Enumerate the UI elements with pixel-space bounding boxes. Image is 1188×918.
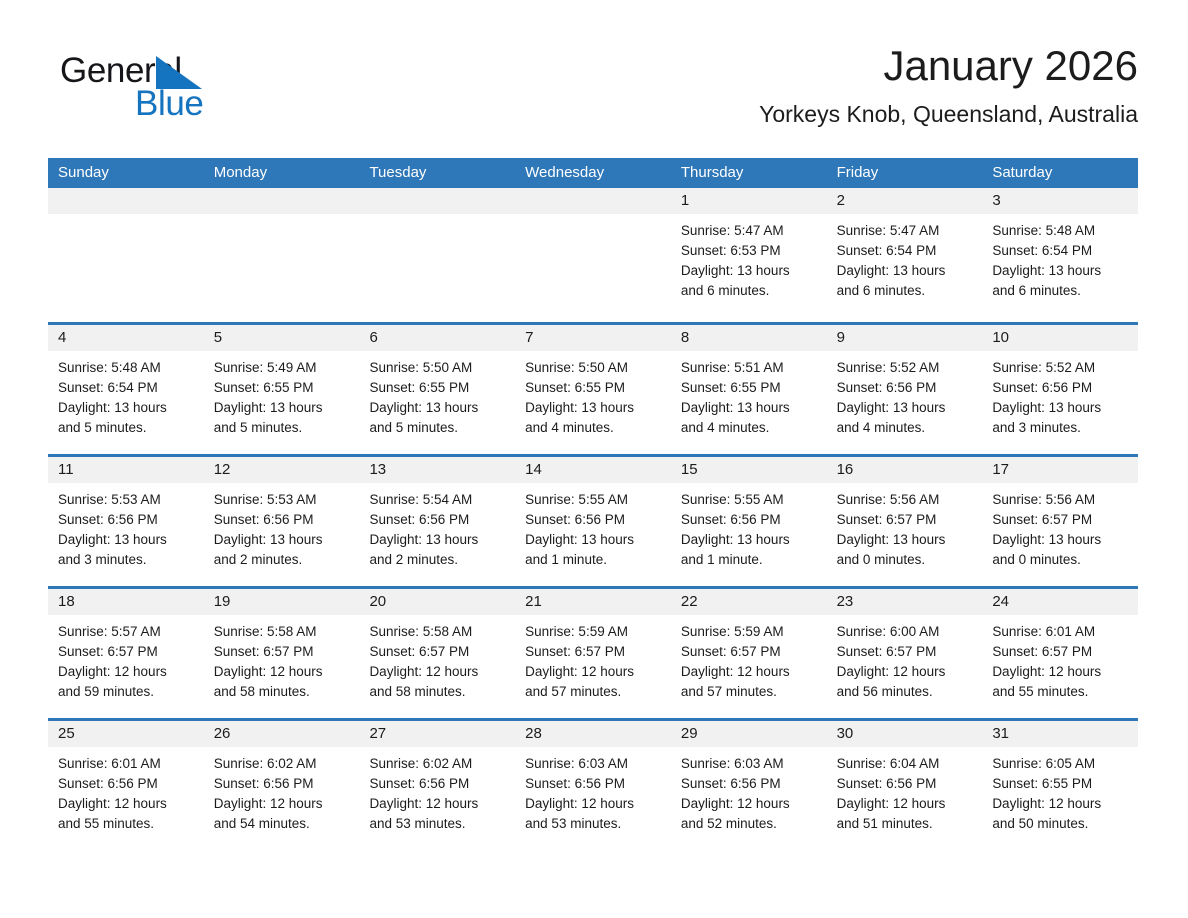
sunset-text: Sunset: 6:56 PM [681, 510, 819, 530]
sunset-text: Sunset: 6:57 PM [992, 642, 1130, 662]
daylight-text-line1: Daylight: 13 hours [681, 530, 819, 550]
calendar-day-cell[interactable]: 30Sunrise: 6:04 AMSunset: 6:56 PMDayligh… [827, 721, 983, 850]
daylight-text-line1: Daylight: 12 hours [681, 794, 819, 814]
daylight-text-line1: Daylight: 12 hours [58, 794, 196, 814]
daylight-text-line2: and 6 minutes. [992, 281, 1130, 301]
sunrise-text: Sunrise: 5:53 AM [214, 490, 352, 510]
daylight-text-line2: and 0 minutes. [992, 550, 1130, 570]
sunset-text: Sunset: 6:56 PM [525, 510, 663, 530]
day-number: 1 [671, 188, 827, 214]
sunset-text: Sunset: 6:55 PM [525, 378, 663, 398]
daylight-text-line1: Daylight: 12 hours [58, 662, 196, 682]
sunrise-text: Sunrise: 6:04 AM [837, 754, 975, 774]
daylight-text-line2: and 55 minutes. [58, 814, 196, 834]
daylight-text-line2: and 53 minutes. [369, 814, 507, 834]
day-sun-info: Sunrise: 5:51 AMSunset: 6:55 PMDaylight:… [671, 351, 827, 438]
day-sun-info: Sunrise: 5:59 AMSunset: 6:57 PMDaylight:… [515, 615, 671, 702]
day-header-sunday: Sunday [48, 158, 204, 188]
daylight-text-line1: Daylight: 13 hours [525, 530, 663, 550]
sunset-text: Sunset: 6:56 PM [837, 378, 975, 398]
day-number: 13 [359, 457, 515, 483]
day-sun-info: Sunrise: 5:58 AMSunset: 6:57 PMDaylight:… [359, 615, 515, 702]
daylight-text-line2: and 59 minutes. [58, 682, 196, 702]
calendar-day-cell[interactable]: 16Sunrise: 5:56 AMSunset: 6:57 PMDayligh… [827, 457, 983, 586]
day-sun-info: Sunrise: 5:50 AMSunset: 6:55 PMDaylight:… [515, 351, 671, 438]
calendar-day-cell[interactable]: 20Sunrise: 5:58 AMSunset: 6:57 PMDayligh… [359, 589, 515, 718]
general-blue-logo[interactable]: General Blue [60, 52, 260, 130]
page-header: General Blue January 2026 Yorkeys Knob, … [48, 40, 1140, 150]
sunset-text: Sunset: 6:56 PM [58, 510, 196, 530]
day-number: 26 [204, 721, 360, 747]
daylight-text-line2: and 6 minutes. [681, 281, 819, 301]
daylight-text-line2: and 55 minutes. [992, 682, 1130, 702]
sunset-text: Sunset: 6:57 PM [58, 642, 196, 662]
calendar-day-cell[interactable]: 10Sunrise: 5:52 AMSunset: 6:56 PMDayligh… [982, 325, 1138, 454]
day-number: 21 [515, 589, 671, 615]
daylight-text-line2: and 57 minutes. [525, 682, 663, 702]
sunset-text: Sunset: 6:56 PM [214, 510, 352, 530]
weeks-container: 1Sunrise: 5:47 AMSunset: 6:53 PMDaylight… [48, 188, 1138, 850]
day-sun-info: Sunrise: 6:01 AMSunset: 6:56 PMDaylight:… [48, 747, 204, 834]
day-number [359, 188, 515, 214]
sunrise-text: Sunrise: 5:59 AM [525, 622, 663, 642]
sunset-text: Sunset: 6:56 PM [214, 774, 352, 794]
sunrise-text: Sunrise: 5:48 AM [992, 221, 1130, 241]
daylight-text-line1: Daylight: 13 hours [214, 530, 352, 550]
calendar-day-cell-empty [204, 188, 360, 322]
calendar-day-cell[interactable]: 26Sunrise: 6:02 AMSunset: 6:56 PMDayligh… [204, 721, 360, 850]
sunrise-text: Sunrise: 5:55 AM [525, 490, 663, 510]
sunset-text: Sunset: 6:56 PM [369, 510, 507, 530]
sunset-text: Sunset: 6:56 PM [837, 774, 975, 794]
daylight-text-line1: Daylight: 12 hours [837, 794, 975, 814]
daylight-text-line2: and 52 minutes. [681, 814, 819, 834]
sunset-text: Sunset: 6:57 PM [214, 642, 352, 662]
day-number [48, 188, 204, 214]
calendar-day-cell[interactable]: 8Sunrise: 5:51 AMSunset: 6:55 PMDaylight… [671, 325, 827, 454]
daylight-text-line1: Daylight: 13 hours [992, 398, 1130, 418]
calendar-day-cell[interactable]: 14Sunrise: 5:55 AMSunset: 6:56 PMDayligh… [515, 457, 671, 586]
day-number: 14 [515, 457, 671, 483]
day-number: 29 [671, 721, 827, 747]
day-number: 2 [827, 188, 983, 214]
calendar-day-cell[interactable]: 4Sunrise: 5:48 AMSunset: 6:54 PMDaylight… [48, 325, 204, 454]
day-number: 6 [359, 325, 515, 351]
sunrise-text: Sunrise: 5:48 AM [58, 358, 196, 378]
day-header-friday: Friday [827, 158, 983, 188]
day-header-wednesday: Wednesday [515, 158, 671, 188]
daylight-text-line1: Daylight: 12 hours [525, 794, 663, 814]
day-sun-info: Sunrise: 5:56 AMSunset: 6:57 PMDaylight:… [982, 483, 1138, 570]
day-number: 20 [359, 589, 515, 615]
title-block: January 2026 Yorkeys Knob, Queensland, A… [759, 40, 1138, 130]
daylight-text-line2: and 5 minutes. [58, 418, 196, 438]
daylight-text-line1: Daylight: 13 hours [992, 261, 1130, 281]
day-number: 8 [671, 325, 827, 351]
day-of-week-header-row: Sunday Monday Tuesday Wednesday Thursday… [48, 158, 1138, 188]
sunset-text: Sunset: 6:57 PM [525, 642, 663, 662]
day-number: 12 [204, 457, 360, 483]
sunset-text: Sunset: 6:54 PM [58, 378, 196, 398]
daylight-text-line2: and 2 minutes. [214, 550, 352, 570]
day-sun-info: Sunrise: 5:57 AMSunset: 6:57 PMDaylight:… [48, 615, 204, 702]
calendar-day-cell[interactable]: 18Sunrise: 5:57 AMSunset: 6:57 PMDayligh… [48, 589, 204, 718]
day-header-thursday: Thursday [671, 158, 827, 188]
day-number: 4 [48, 325, 204, 351]
day-sun-info: Sunrise: 5:53 AMSunset: 6:56 PMDaylight:… [204, 483, 360, 570]
day-sun-info: Sunrise: 6:05 AMSunset: 6:55 PMDaylight:… [982, 747, 1138, 834]
sunrise-text: Sunrise: 5:58 AM [214, 622, 352, 642]
day-number: 22 [671, 589, 827, 615]
day-sun-info: Sunrise: 6:03 AMSunset: 6:56 PMDaylight:… [515, 747, 671, 834]
calendar-week-row: 18Sunrise: 5:57 AMSunset: 6:57 PMDayligh… [48, 586, 1138, 718]
sunset-text: Sunset: 6:54 PM [992, 241, 1130, 261]
calendar-day-cell[interactable]: 3Sunrise: 5:48 AMSunset: 6:54 PMDaylight… [982, 188, 1138, 322]
calendar-day-cell-empty [359, 188, 515, 322]
calendar-page: General Blue January 2026 Yorkeys Knob, … [0, 0, 1188, 918]
daylight-text-line2: and 6 minutes. [837, 281, 975, 301]
sunrise-text: Sunrise: 5:52 AM [837, 358, 975, 378]
daylight-text-line1: Daylight: 13 hours [681, 261, 819, 281]
sunrise-text: Sunrise: 5:51 AM [681, 358, 819, 378]
daylight-text-line1: Daylight: 13 hours [837, 530, 975, 550]
sunrise-text: Sunrise: 5:54 AM [369, 490, 507, 510]
calendar-day-cell-empty [515, 188, 671, 322]
day-number: 9 [827, 325, 983, 351]
day-header-saturday: Saturday [982, 158, 1138, 188]
sunrise-text: Sunrise: 6:02 AM [369, 754, 507, 774]
sunrise-text: Sunrise: 5:47 AM [681, 221, 819, 241]
day-sun-info: Sunrise: 5:47 AMSunset: 6:53 PMDaylight:… [671, 214, 827, 301]
calendar-day-cell[interactable]: 29Sunrise: 6:03 AMSunset: 6:56 PMDayligh… [671, 721, 827, 850]
daylight-text-line2: and 56 minutes. [837, 682, 975, 702]
day-sun-info: Sunrise: 6:03 AMSunset: 6:56 PMDaylight:… [671, 747, 827, 834]
calendar-day-cell[interactable]: 28Sunrise: 6:03 AMSunset: 6:56 PMDayligh… [515, 721, 671, 850]
day-number: 15 [671, 457, 827, 483]
daylight-text-line1: Daylight: 12 hours [525, 662, 663, 682]
day-sun-info: Sunrise: 5:50 AMSunset: 6:55 PMDaylight:… [359, 351, 515, 438]
sunrise-text: Sunrise: 5:56 AM [837, 490, 975, 510]
calendar-day-cell[interactable]: 12Sunrise: 5:53 AMSunset: 6:56 PMDayligh… [204, 457, 360, 586]
sunset-text: Sunset: 6:55 PM [369, 378, 507, 398]
sunset-text: Sunset: 6:56 PM [525, 774, 663, 794]
page-title: January 2026 [759, 40, 1138, 92]
day-number: 24 [982, 589, 1138, 615]
daylight-text-line2: and 53 minutes. [525, 814, 663, 834]
daylight-text-line2: and 54 minutes. [214, 814, 352, 834]
day-sun-info: Sunrise: 6:02 AMSunset: 6:56 PMDaylight:… [204, 747, 360, 834]
sunrise-text: Sunrise: 5:58 AM [369, 622, 507, 642]
sunrise-text: Sunrise: 6:00 AM [837, 622, 975, 642]
daylight-text-line1: Daylight: 13 hours [369, 398, 507, 418]
daylight-text-line1: Daylight: 13 hours [837, 398, 975, 418]
day-sun-info: Sunrise: 5:55 AMSunset: 6:56 PMDaylight:… [671, 483, 827, 570]
day-sun-info: Sunrise: 5:53 AMSunset: 6:56 PMDaylight:… [48, 483, 204, 570]
sunrise-text: Sunrise: 6:03 AM [681, 754, 819, 774]
day-sun-info: Sunrise: 5:54 AMSunset: 6:56 PMDaylight:… [359, 483, 515, 570]
calendar-day-cell[interactable]: 17Sunrise: 5:56 AMSunset: 6:57 PMDayligh… [982, 457, 1138, 586]
day-sun-info: Sunrise: 6:04 AMSunset: 6:56 PMDaylight:… [827, 747, 983, 834]
daylight-text-line2: and 50 minutes. [992, 814, 1130, 834]
daylight-text-line2: and 5 minutes. [214, 418, 352, 438]
day-sun-info: Sunrise: 6:02 AMSunset: 6:56 PMDaylight:… [359, 747, 515, 834]
daylight-text-line2: and 5 minutes. [369, 418, 507, 438]
day-number: 23 [827, 589, 983, 615]
logo-text-blue: Blue [135, 85, 203, 123]
sunset-text: Sunset: 6:56 PM [992, 378, 1130, 398]
day-number: 10 [982, 325, 1138, 351]
sunrise-text: Sunrise: 5:55 AM [681, 490, 819, 510]
day-sun-info: Sunrise: 5:47 AMSunset: 6:54 PMDaylight:… [827, 214, 983, 301]
day-number [515, 188, 671, 214]
sunrise-text: Sunrise: 5:53 AM [58, 490, 196, 510]
daylight-text-line1: Daylight: 12 hours [369, 794, 507, 814]
daylight-text-line2: and 58 minutes. [369, 682, 507, 702]
calendar-day-cell[interactable]: 7Sunrise: 5:50 AMSunset: 6:55 PMDaylight… [515, 325, 671, 454]
sunrise-text: Sunrise: 5:49 AM [214, 358, 352, 378]
day-sun-info: Sunrise: 5:56 AMSunset: 6:57 PMDaylight:… [827, 483, 983, 570]
sunrise-text: Sunrise: 6:03 AM [525, 754, 663, 774]
sunrise-text: Sunrise: 5:59 AM [681, 622, 819, 642]
sunset-text: Sunset: 6:55 PM [214, 378, 352, 398]
sunrise-text: Sunrise: 5:47 AM [837, 221, 975, 241]
daylight-text-line2: and 58 minutes. [214, 682, 352, 702]
calendar-day-cell-empty [48, 188, 204, 322]
sunrise-text: Sunrise: 6:01 AM [992, 622, 1130, 642]
daylight-text-line1: Daylight: 12 hours [837, 662, 975, 682]
calendar-week-row: 4Sunrise: 5:48 AMSunset: 6:54 PMDaylight… [48, 322, 1138, 454]
daylight-text-line2: and 1 minute. [525, 550, 663, 570]
calendar-day-cell[interactable]: 1Sunrise: 5:47 AMSunset: 6:53 PMDaylight… [671, 188, 827, 322]
daylight-text-line1: Daylight: 13 hours [681, 398, 819, 418]
day-sun-info: Sunrise: 5:48 AMSunset: 6:54 PMDaylight:… [48, 351, 204, 438]
calendar-day-cell[interactable]: 31Sunrise: 6:05 AMSunset: 6:55 PMDayligh… [982, 721, 1138, 850]
sunset-text: Sunset: 6:57 PM [837, 642, 975, 662]
calendar-day-cell[interactable]: 13Sunrise: 5:54 AMSunset: 6:56 PMDayligh… [359, 457, 515, 586]
sunrise-text: Sunrise: 5:52 AM [992, 358, 1130, 378]
day-number: 25 [48, 721, 204, 747]
sunset-text: Sunset: 6:57 PM [681, 642, 819, 662]
sunrise-text: Sunrise: 5:57 AM [58, 622, 196, 642]
sunset-text: Sunset: 6:53 PM [681, 241, 819, 261]
calendar-grid: Sunday Monday Tuesday Wednesday Thursday… [48, 158, 1138, 850]
sunset-text: Sunset: 6:57 PM [369, 642, 507, 662]
calendar-day-cell[interactable]: 22Sunrise: 5:59 AMSunset: 6:57 PMDayligh… [671, 589, 827, 718]
sunrise-text: Sunrise: 5:50 AM [369, 358, 507, 378]
day-number: 27 [359, 721, 515, 747]
day-number: 16 [827, 457, 983, 483]
day-number: 31 [982, 721, 1138, 747]
calendar-day-cell[interactable]: 15Sunrise: 5:55 AMSunset: 6:56 PMDayligh… [671, 457, 827, 586]
calendar-day-cell[interactable]: 9Sunrise: 5:52 AMSunset: 6:56 PMDaylight… [827, 325, 983, 454]
day-sun-info: Sunrise: 5:55 AMSunset: 6:56 PMDaylight:… [515, 483, 671, 570]
daylight-text-line2: and 4 minutes. [681, 418, 819, 438]
daylight-text-line1: Daylight: 12 hours [992, 662, 1130, 682]
calendar-day-cell[interactable]: 24Sunrise: 6:01 AMSunset: 6:57 PMDayligh… [982, 589, 1138, 718]
calendar-day-cell[interactable]: 5Sunrise: 5:49 AMSunset: 6:55 PMDaylight… [204, 325, 360, 454]
daylight-text-line1: Daylight: 13 hours [58, 530, 196, 550]
calendar-week-row: 11Sunrise: 5:53 AMSunset: 6:56 PMDayligh… [48, 454, 1138, 586]
daylight-text-line1: Daylight: 13 hours [369, 530, 507, 550]
sunset-text: Sunset: 6:56 PM [58, 774, 196, 794]
day-number: 11 [48, 457, 204, 483]
sunset-text: Sunset: 6:55 PM [992, 774, 1130, 794]
daylight-text-line2: and 4 minutes. [525, 418, 663, 438]
day-header-monday: Monday [204, 158, 360, 188]
sunset-text: Sunset: 6:57 PM [837, 510, 975, 530]
daylight-text-line1: Daylight: 12 hours [369, 662, 507, 682]
calendar-day-cell[interactable]: 19Sunrise: 5:58 AMSunset: 6:57 PMDayligh… [204, 589, 360, 718]
day-number: 7 [515, 325, 671, 351]
day-sun-info: Sunrise: 5:59 AMSunset: 6:57 PMDaylight:… [671, 615, 827, 702]
day-number: 28 [515, 721, 671, 747]
calendar-day-cell[interactable]: 6Sunrise: 5:50 AMSunset: 6:55 PMDaylight… [359, 325, 515, 454]
calendar-day-cell[interactable]: 27Sunrise: 6:02 AMSunset: 6:56 PMDayligh… [359, 721, 515, 850]
day-number: 19 [204, 589, 360, 615]
day-sun-info: Sunrise: 5:58 AMSunset: 6:57 PMDaylight:… [204, 615, 360, 702]
calendar-week-row: 25Sunrise: 6:01 AMSunset: 6:56 PMDayligh… [48, 718, 1138, 850]
daylight-text-line2: and 2 minutes. [369, 550, 507, 570]
day-sun-info: Sunrise: 5:52 AMSunset: 6:56 PMDaylight:… [827, 351, 983, 438]
sunrise-text: Sunrise: 6:02 AM [214, 754, 352, 774]
calendar-day-cell[interactable]: 23Sunrise: 6:00 AMSunset: 6:57 PMDayligh… [827, 589, 983, 718]
day-sun-info: Sunrise: 5:49 AMSunset: 6:55 PMDaylight:… [204, 351, 360, 438]
daylight-text-line1: Daylight: 12 hours [214, 794, 352, 814]
day-sun-info: Sunrise: 6:00 AMSunset: 6:57 PMDaylight:… [827, 615, 983, 702]
sunrise-text: Sunrise: 6:05 AM [992, 754, 1130, 774]
daylight-text-line1: Daylight: 13 hours [214, 398, 352, 418]
daylight-text-line2: and 51 minutes. [837, 814, 975, 834]
day-sun-info: Sunrise: 5:52 AMSunset: 6:56 PMDaylight:… [982, 351, 1138, 438]
day-number: 30 [827, 721, 983, 747]
day-number: 18 [48, 589, 204, 615]
daylight-text-line1: Daylight: 13 hours [58, 398, 196, 418]
calendar-day-cell[interactable]: 11Sunrise: 5:53 AMSunset: 6:56 PMDayligh… [48, 457, 204, 586]
calendar-day-cell[interactable]: 25Sunrise: 6:01 AMSunset: 6:56 PMDayligh… [48, 721, 204, 850]
daylight-text-line2: and 3 minutes. [992, 418, 1130, 438]
calendar-day-cell[interactable]: 21Sunrise: 5:59 AMSunset: 6:57 PMDayligh… [515, 589, 671, 718]
daylight-text-line2: and 4 minutes. [837, 418, 975, 438]
daylight-text-line2: and 57 minutes. [681, 682, 819, 702]
sunset-text: Sunset: 6:56 PM [369, 774, 507, 794]
sunset-text: Sunset: 6:54 PM [837, 241, 975, 261]
day-sun-info: Sunrise: 5:48 AMSunset: 6:54 PMDaylight:… [982, 214, 1138, 301]
day-number [204, 188, 360, 214]
page-subtitle: Yorkeys Knob, Queensland, Australia [759, 98, 1138, 130]
sunset-text: Sunset: 6:57 PM [992, 510, 1130, 530]
daylight-text-line1: Daylight: 12 hours [992, 794, 1130, 814]
sunset-text: Sunset: 6:55 PM [681, 378, 819, 398]
sunset-text: Sunset: 6:56 PM [681, 774, 819, 794]
day-number: 3 [982, 188, 1138, 214]
daylight-text-line1: Daylight: 13 hours [525, 398, 663, 418]
daylight-text-line1: Daylight: 12 hours [681, 662, 819, 682]
daylight-text-line2: and 3 minutes. [58, 550, 196, 570]
sunrise-text: Sunrise: 5:50 AM [525, 358, 663, 378]
sunrise-text: Sunrise: 5:56 AM [992, 490, 1130, 510]
daylight-text-line1: Daylight: 13 hours [992, 530, 1130, 550]
day-sun-info: Sunrise: 6:01 AMSunset: 6:57 PMDaylight:… [982, 615, 1138, 702]
calendar-day-cell[interactable]: 2Sunrise: 5:47 AMSunset: 6:54 PMDaylight… [827, 188, 983, 322]
daylight-text-line2: and 0 minutes. [837, 550, 975, 570]
sunrise-text: Sunrise: 6:01 AM [58, 754, 196, 774]
daylight-text-line1: Daylight: 13 hours [837, 261, 975, 281]
calendar-week-row: 1Sunrise: 5:47 AMSunset: 6:53 PMDaylight… [48, 188, 1138, 322]
daylight-text-line1: Daylight: 12 hours [214, 662, 352, 682]
day-header-tuesday: Tuesday [359, 158, 515, 188]
daylight-text-line2: and 1 minute. [681, 550, 819, 570]
day-number: 17 [982, 457, 1138, 483]
day-number: 5 [204, 325, 360, 351]
